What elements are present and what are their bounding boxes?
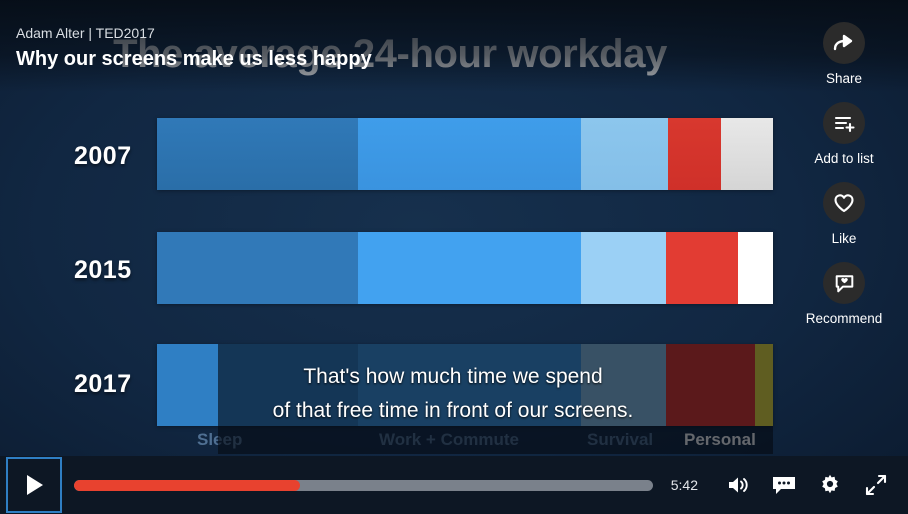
bar-segment-free [738, 232, 773, 304]
chart-row-2015: 2015 [0, 232, 908, 304]
bar-segment-personal [668, 118, 721, 190]
add-to-list-label: Add to list [814, 151, 873, 166]
settings-button[interactable] [810, 465, 850, 505]
progress-fill [74, 480, 300, 491]
recommend-label: Recommend [806, 311, 883, 326]
progress-bar[interactable] [74, 479, 653, 491]
bar-segment-sleep [157, 118, 358, 190]
bar-segment-work [358, 118, 581, 190]
gear-icon [818, 473, 842, 497]
bar-segment-personal [666, 232, 738, 304]
bar-segment-free [721, 118, 773, 190]
volume-button[interactable] [718, 465, 758, 505]
row-year-label: 2015 [74, 256, 154, 285]
fullscreen-button[interactable] [856, 465, 896, 505]
volume-icon [726, 474, 750, 496]
play-icon [22, 472, 46, 498]
progress-track[interactable] [74, 480, 653, 491]
add-to-list-button[interactable]: Add to list [814, 102, 873, 166]
play-button[interactable] [6, 457, 62, 513]
captions-button[interactable] [764, 465, 804, 505]
fullscreen-icon [864, 473, 888, 497]
captions-icon [771, 474, 797, 496]
recommend-icon [823, 262, 865, 304]
recommend-button[interactable]: Recommend [806, 262, 883, 326]
share-icon [823, 22, 865, 64]
share-button[interactable]: Share [823, 22, 865, 86]
row-year-label: 2017 [74, 370, 154, 399]
action-rail: Share Add to list Like [780, 22, 908, 342]
row-year-label: 2007 [74, 142, 154, 171]
bar-segment-work [358, 232, 581, 304]
speaker-line: Adam Alter | TED2017 [16, 25, 155, 41]
like-label: Like [832, 231, 857, 246]
stacked-bar [157, 232, 773, 304]
video-player: The average 24-hour workday 2007 2015 [0, 0, 908, 514]
chart-row-2007: 2007 [0, 118, 908, 190]
bar-segment-survival [581, 118, 668, 190]
player-controls: 5:42 [0, 456, 908, 514]
bar-segment-survival [581, 232, 666, 304]
caption-line-1: That's how much time we spend [218, 360, 688, 394]
time-display: 5:42 [671, 477, 698, 493]
caption-line-2: of that free time in front of our screen… [218, 394, 688, 428]
like-button[interactable]: Like [823, 182, 865, 246]
add-to-list-icon [823, 102, 865, 144]
bar-segment-sleep [157, 232, 358, 304]
video-stage[interactable]: The average 24-hour workday 2007 2015 [0, 0, 908, 514]
caption-text: That's how much time we spend of that fr… [218, 360, 688, 428]
share-label: Share [826, 71, 862, 86]
heart-icon [823, 182, 865, 224]
stacked-bar [157, 118, 773, 190]
page-title: Why our screens make us less happy [16, 48, 372, 71]
